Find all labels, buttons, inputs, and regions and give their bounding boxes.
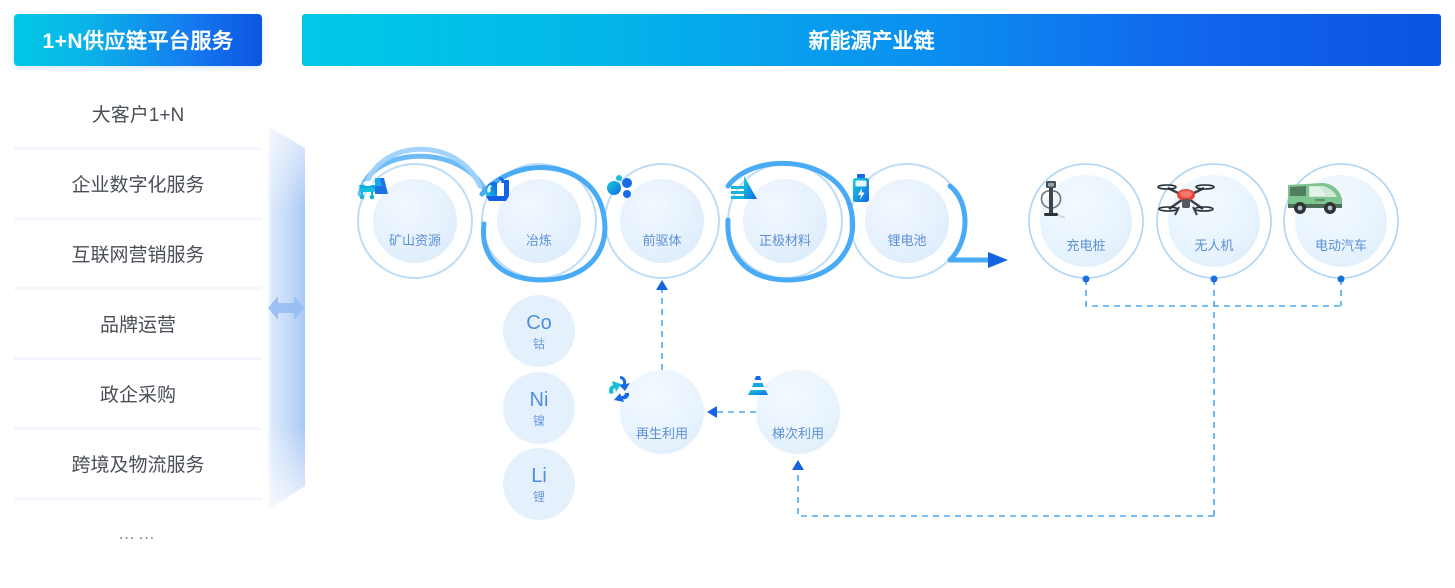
sidebar-item-label: 政企采购 bbox=[100, 380, 176, 407]
recycle-node-cascade[interactable]: 梯次利用 bbox=[741, 374, 855, 454]
element-node-nickel[interactable]: Ni 镍 bbox=[503, 375, 575, 441]
sidebar-item-internet-marketing[interactable]: 互联网营销服务 bbox=[14, 220, 262, 290]
main-panel: 新能源产业链 bbox=[302, 14, 1441, 574]
element-node-lithium[interactable]: Li 锂 bbox=[503, 451, 575, 517]
element-symbol: Co bbox=[526, 313, 552, 333]
drone-photo bbox=[1190, 195, 1238, 235]
application-node-electric-vehicle[interactable]: 电动汽车 bbox=[1284, 177, 1398, 269]
cathode-material-icon bbox=[768, 196, 802, 230]
sidebar-menu: 大客户1+N 企业数字化服务 互联网营销服务 品牌运营 政企采购 跨境及物流服务… bbox=[14, 80, 262, 567]
sidebar-item-label: 大客户1+N bbox=[92, 100, 184, 127]
sidebar-item-brand-operation[interactable]: 品牌运营 bbox=[14, 290, 262, 360]
element-symbol: Ni bbox=[530, 390, 549, 410]
sidebar-item-label: 互联网营销服务 bbox=[71, 240, 204, 267]
chain-node-cathode[interactable]: 正极材料 bbox=[728, 174, 842, 268]
battery-icon bbox=[890, 196, 924, 230]
chain-node-precursor[interactable]: 前驱体 bbox=[605, 174, 719, 268]
molecule-dots-icon bbox=[645, 196, 679, 230]
recycle-icon bbox=[645, 389, 679, 423]
element-name: 锂 bbox=[533, 491, 545, 503]
element-symbol: Li bbox=[531, 466, 547, 486]
application-node-label: 充电桩 bbox=[1066, 239, 1105, 252]
page-title: 新能源产业链 bbox=[302, 14, 1441, 66]
application-node-drone[interactable]: 无人机 bbox=[1157, 177, 1271, 269]
industry-chain-diagram: 矿山资源 冶炼 bbox=[302, 74, 1441, 574]
application-node-label: 无人机 bbox=[1194, 239, 1233, 252]
smelting-ladle-icon bbox=[522, 196, 556, 230]
sidebar-item-label: 跨境及物流服务 bbox=[71, 450, 204, 477]
chain-arrow-head bbox=[988, 252, 1008, 268]
sidebar-item-label: 企业数字化服务 bbox=[71, 170, 204, 197]
application-node-charging-pile[interactable]: 充电桩 bbox=[1029, 177, 1143, 269]
sidebar-item-key-account[interactable]: 大客户1+N bbox=[14, 80, 262, 150]
sidebar-item-more[interactable]: …… bbox=[14, 500, 262, 567]
element-name: 镍 bbox=[533, 415, 545, 427]
chain-node-label: 矿山资源 bbox=[389, 234, 441, 247]
sidebar-item-cross-border-logistics[interactable]: 跨境及物流服务 bbox=[14, 430, 262, 500]
flow-line-dots bbox=[1083, 276, 1345, 283]
sidebar: 1+N供应链平台服务 大客户1+N 企业数字化服务 互联网营销服务 品牌运营 政… bbox=[14, 14, 262, 567]
electric-van-photo bbox=[1317, 195, 1365, 235]
recycle-node-label: 再生利用 bbox=[636, 427, 688, 440]
element-node-cobalt[interactable]: Co 钴 bbox=[503, 298, 575, 364]
element-name: 钴 bbox=[533, 338, 545, 350]
sidebar-item-label: 品牌运营 bbox=[100, 310, 176, 337]
sidebar-item-label: …… bbox=[118, 524, 158, 544]
chain-node-label: 正极材料 bbox=[759, 234, 811, 247]
recycle-node-label: 梯次利用 bbox=[772, 427, 824, 440]
banner-title-text: 新能源产业链 bbox=[809, 25, 935, 55]
mining-truck-icon bbox=[398, 196, 432, 230]
sidebar-title: 1+N供应链平台服务 bbox=[14, 14, 262, 66]
application-node-label: 电动汽车 bbox=[1315, 239, 1367, 252]
chain-node-smelting[interactable]: 冶炼 bbox=[482, 174, 596, 268]
charging-pile-photo bbox=[1062, 195, 1110, 235]
chain-node-battery[interactable]: 锂电池 bbox=[850, 174, 964, 268]
chain-node-mining[interactable]: 矿山资源 bbox=[358, 174, 472, 268]
chain-node-label: 冶炼 bbox=[526, 234, 552, 247]
chain-node-label: 前驱体 bbox=[642, 234, 681, 247]
cascade-utilization-icon bbox=[781, 389, 815, 423]
sidebar-item-government-procurement[interactable]: 政企采购 bbox=[14, 360, 262, 430]
chain-node-label: 锂电池 bbox=[887, 234, 926, 247]
recycle-node-regeneration[interactable]: 再生利用 bbox=[605, 374, 719, 454]
sidebar-item-digitalization[interactable]: 企业数字化服务 bbox=[14, 150, 262, 220]
